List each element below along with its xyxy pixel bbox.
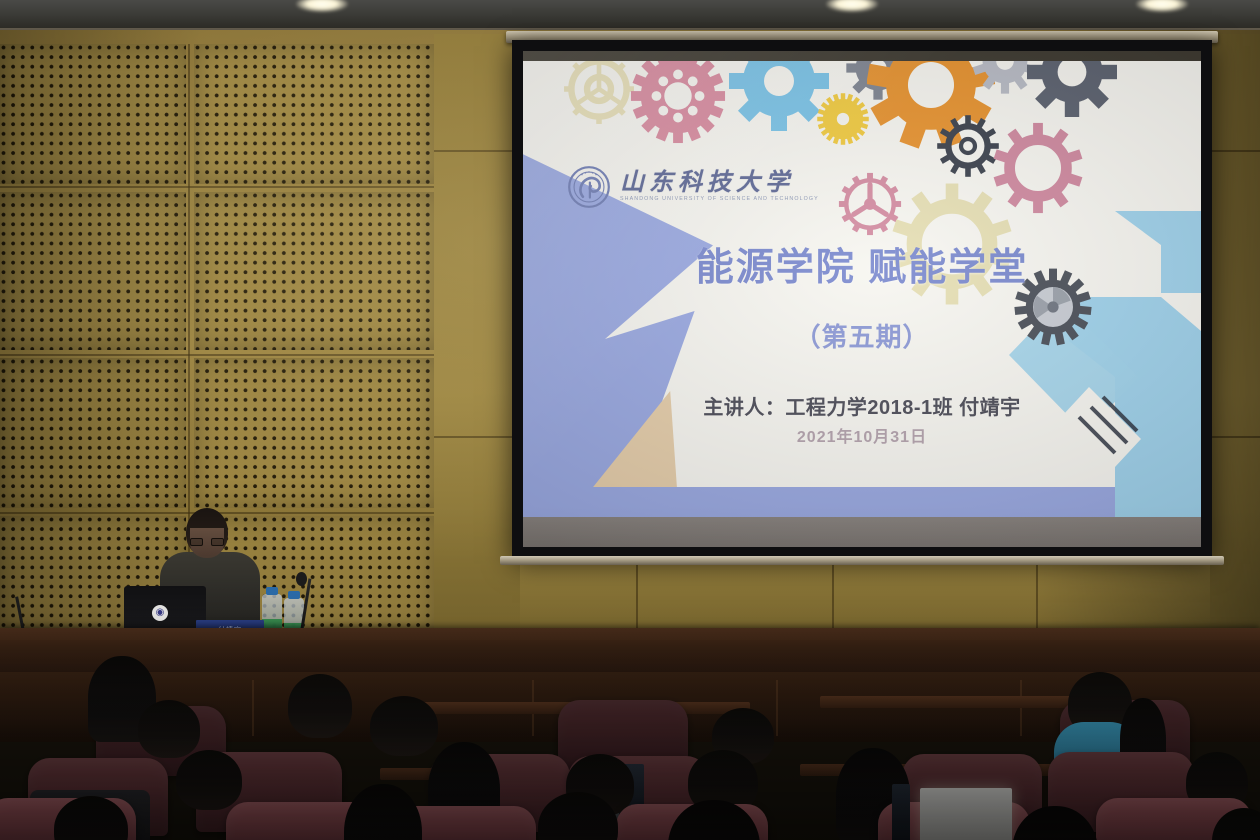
panel-seam bbox=[0, 186, 434, 188]
slide-date: 2021年10月31日 bbox=[523, 423, 1201, 447]
lecture-hall-photo: 山东科技大学 SHANDONG UNIVERSITY OF SCIENCE AN… bbox=[0, 0, 1260, 840]
panel-seam bbox=[434, 150, 520, 152]
laptop-sticker-glyph: ◉ bbox=[156, 608, 165, 618]
gear-icon bbox=[629, 61, 727, 145]
wall-panel bbox=[1210, 34, 1260, 632]
screen-top-band bbox=[523, 51, 1201, 61]
university-name-en: SHANDONG UNIVERSITY OF SCIENCE AND TECHN… bbox=[620, 197, 819, 202]
laptop-sticker-icon: ◉ bbox=[152, 605, 168, 621]
slide-title: 能源学院 赋能学堂 bbox=[523, 236, 1201, 291]
acoustic-panel bbox=[194, 358, 434, 508]
gear-icon bbox=[1027, 61, 1117, 117]
university-emblem-icon bbox=[567, 165, 611, 209]
audience-person bbox=[344, 784, 422, 840]
audience-person bbox=[288, 674, 352, 738]
university-logo: 山东科技大学 SHANDONG UNIVERSITY OF SCIENCE AN… bbox=[567, 165, 815, 209]
projection-surface: 山东科技大学 SHANDONG UNIVERSITY OF SCIENCE AN… bbox=[523, 51, 1201, 547]
acoustic-panel bbox=[194, 44, 434, 184]
panel-seam bbox=[636, 558, 638, 632]
audience-laptop-lid bbox=[892, 784, 910, 840]
projector-screen-weight-bar bbox=[500, 556, 1224, 565]
glasses-icon bbox=[190, 538, 224, 546]
panel-seam bbox=[0, 354, 434, 356]
presentation-slide: 山东科技大学 SHANDONG UNIVERSITY OF SCIENCE AN… bbox=[523, 61, 1201, 517]
panel-seam bbox=[1036, 558, 1038, 632]
university-name-cn: 山东科技大学 bbox=[620, 171, 815, 195]
acoustic-panel bbox=[0, 192, 186, 350]
microphone-head-icon bbox=[296, 572, 307, 586]
slide-subtitle: （第五期） bbox=[523, 317, 1201, 354]
panel-seam bbox=[832, 558, 834, 632]
panel-seam bbox=[434, 436, 520, 438]
audience-person bbox=[176, 750, 242, 810]
audience-person bbox=[138, 700, 200, 758]
acoustic-panel bbox=[0, 358, 186, 508]
audience-person bbox=[370, 696, 438, 756]
audience-laptop bbox=[920, 788, 1012, 840]
projector-screen: 山东科技大学 SHANDONG UNIVERSITY OF SCIENCE AN… bbox=[512, 40, 1212, 558]
screen-bottom-band bbox=[523, 517, 1201, 547]
slide-presenter-line: 主讲人：工程力学2018-1班 付靖宇 bbox=[523, 391, 1201, 420]
wall-panel bbox=[434, 34, 520, 632]
acoustic-panel bbox=[194, 192, 434, 350]
audience-area bbox=[0, 640, 1260, 840]
acoustic-panel bbox=[0, 44, 186, 184]
gear-icon bbox=[729, 61, 829, 131]
